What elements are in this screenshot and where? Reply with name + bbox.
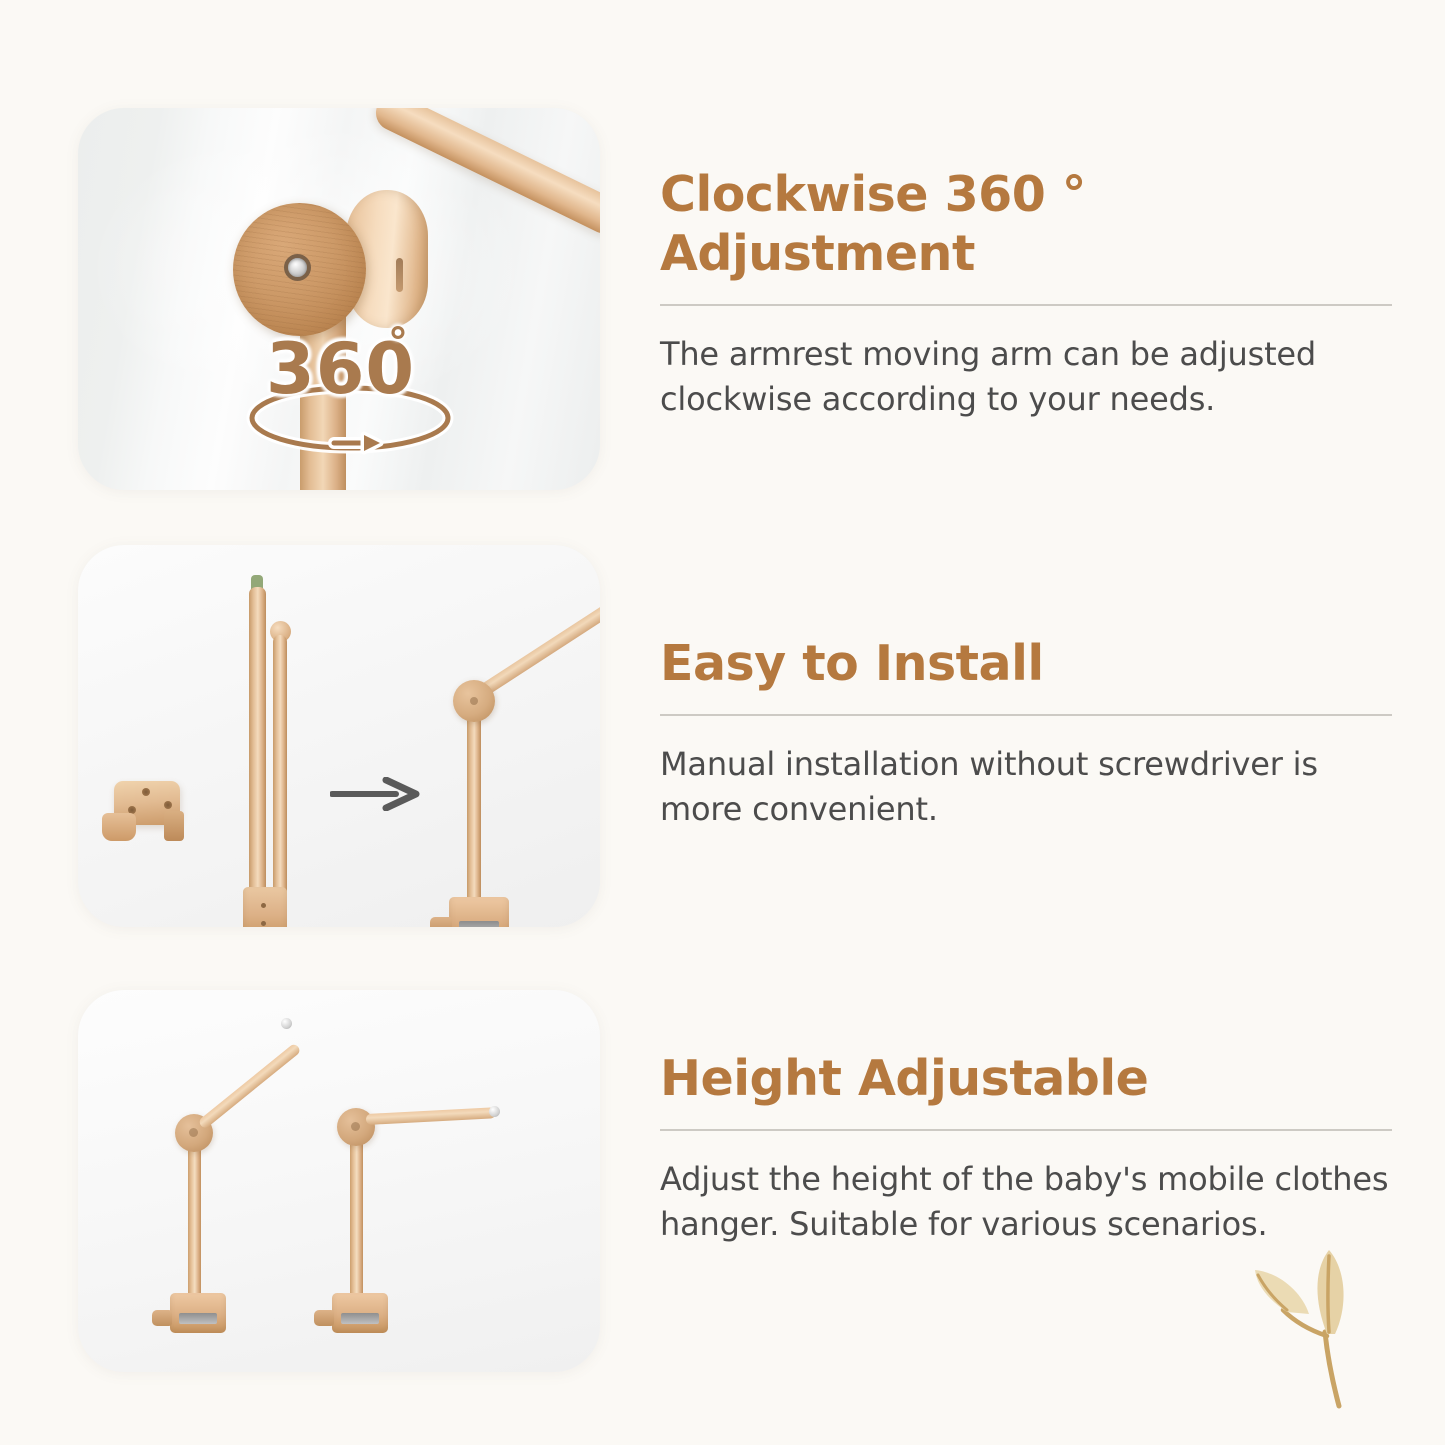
feature-heading: Height Adjustable <box>660 1050 1395 1109</box>
metal-screw-icon <box>284 254 311 281</box>
feature-text-block: Clockwise 360 ° Adjustment The armrest m… <box>660 108 1395 422</box>
clamp-tighten-knob <box>430 917 452 927</box>
feature-row-360-adjustment: 360 ° Clockwise 360 ° Adjustment The arm… <box>0 108 1445 490</box>
assembled-clamp-base <box>449 897 509 927</box>
heading-divider <box>660 714 1392 716</box>
feature-body-text: Adjust the height of the baby's mobile c… <box>660 1157 1395 1248</box>
screw-hole <box>142 788 150 796</box>
heading-divider <box>660 304 1392 306</box>
pivot-slot <box>396 258 403 292</box>
feature-heading: Clockwise 360 ° Adjustment <box>660 166 1395 284</box>
short-rod-part <box>273 635 287 897</box>
pivot-joint-closeup-photo: 360 ° <box>78 108 600 490</box>
rotation-overlay: 360 ° <box>238 326 468 461</box>
stand-b-base <box>332 1293 388 1333</box>
feature-heading: Easy to Install <box>660 635 1395 694</box>
stand-a-post <box>188 1140 201 1305</box>
feature-body-text: The armrest moving arm can be adjusted c… <box>660 332 1395 423</box>
clamp-knob-part <box>102 813 136 841</box>
stand-b-arm-tip <box>489 1106 500 1117</box>
stand-a-arm-tip <box>281 1018 292 1029</box>
assembled-vertical-post <box>467 710 481 910</box>
feature-text-block: Height Adjustable Adjust the height of t… <box>660 990 1395 1248</box>
screw-hole <box>261 921 266 926</box>
height-comparison-photo <box>78 990 600 1372</box>
heading-divider <box>660 1129 1392 1131</box>
stand-b-post <box>350 1135 363 1305</box>
stand-a-base <box>170 1293 226 1333</box>
assembled-hinge <box>453 680 495 722</box>
leaf-sprig-icon <box>1247 1248 1407 1423</box>
photo-background <box>78 545 600 927</box>
screw-hole <box>164 801 172 809</box>
screw-hole <box>261 903 266 908</box>
clamp-foot-part <box>164 811 184 841</box>
rod-base-collar <box>243 887 287 927</box>
clamp-slot <box>179 1313 217 1324</box>
clamp-slot <box>459 921 499 927</box>
feature-row-height-adjustable: Height Adjustable Adjust the height of t… <box>0 990 1445 1372</box>
feature-text-block: Easy to Install Manual installation with… <box>660 545 1395 833</box>
feature-body-text: Manual installation without screwdriver … <box>660 742 1395 833</box>
stand-a-base-knob <box>152 1310 172 1326</box>
infographic-page: 360 ° Clockwise 360 ° Adjustment The arm… <box>0 0 1445 1445</box>
feature-row-easy-install: Easy to Install Manual installation with… <box>0 545 1445 927</box>
right-arrow-icon <box>330 777 422 811</box>
long-rod-part <box>249 587 266 897</box>
stand-b-base-knob <box>314 1310 334 1326</box>
assembly-steps-photo <box>78 545 600 927</box>
rotation-degree-symbol: ° <box>388 320 408 366</box>
clamp-slot <box>341 1313 379 1324</box>
